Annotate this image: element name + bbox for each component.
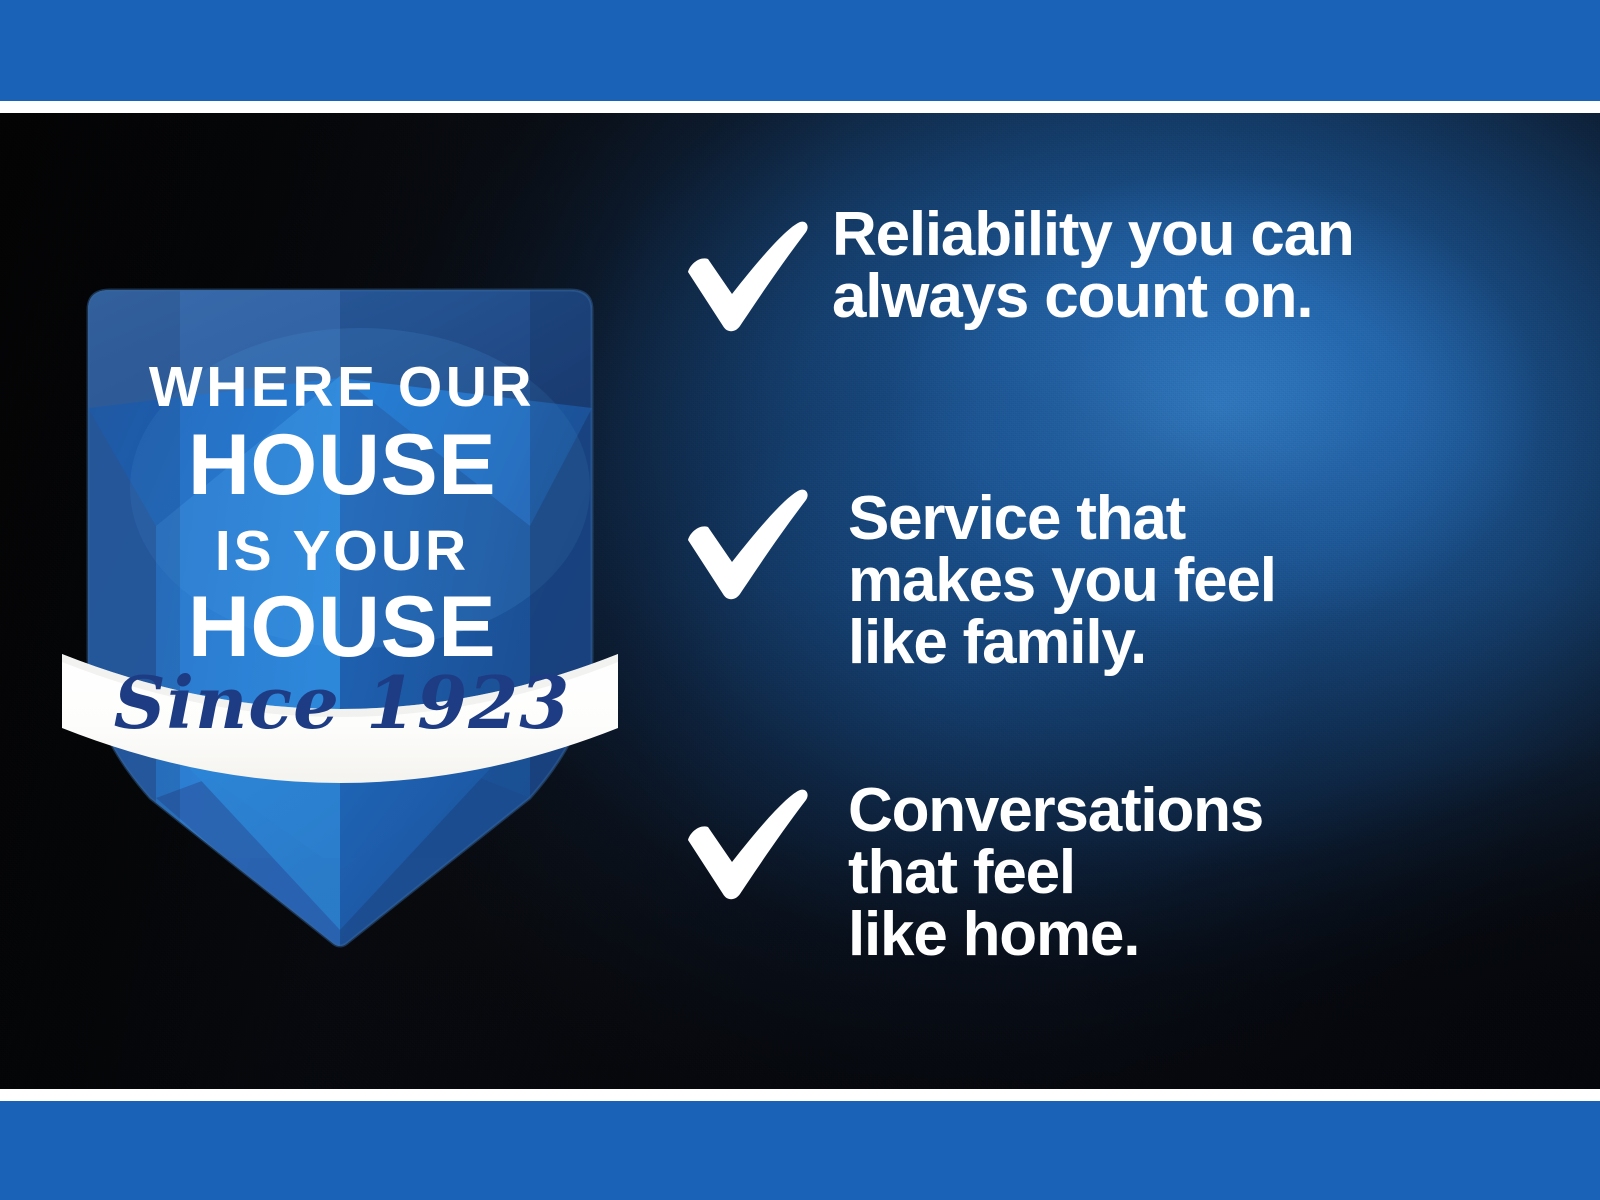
shield-badge: WHERE OUR HOUSE IS YOUR HOUSE Since 1923 [60, 258, 620, 938]
check-icon [680, 482, 812, 602]
check-icon [680, 782, 812, 902]
benefit-text-reliability: Reliability you can always count on. [832, 204, 1532, 328]
top-white-divider [0, 101, 1600, 113]
poster-canvas: WHERE OUR HOUSE IS YOUR HOUSE Since 1923 [0, 0, 1600, 1200]
top-brand-bar [0, 0, 1600, 101]
check-icon [680, 214, 812, 334]
bottom-white-divider [0, 1089, 1600, 1101]
emblem-line-2: HOUSE [188, 417, 496, 513]
bottom-brand-bar [0, 1101, 1600, 1200]
benefit-item-conversations: Conversations that feel like home. [672, 776, 1532, 1056]
benefit-item-reliability: Reliability you can always count on. [672, 208, 1532, 476]
benefits-list: Reliability you can always count on. Ser… [672, 208, 1532, 1056]
benefit-item-service: Service that makes you feel like family. [672, 476, 1532, 776]
ribbon-since-text: Since 1923 [114, 660, 571, 745]
benefit-text-service: Service that makes you feel like family. [848, 488, 1548, 674]
emblem-line-1: WHERE OUR [149, 355, 535, 419]
emblem-line-3: IS YOUR [215, 519, 469, 583]
benefit-text-conversations: Conversations that feel like home. [848, 780, 1548, 966]
main-stage: WHERE OUR HOUSE IS YOUR HOUSE Since 1923 [0, 113, 1600, 1089]
